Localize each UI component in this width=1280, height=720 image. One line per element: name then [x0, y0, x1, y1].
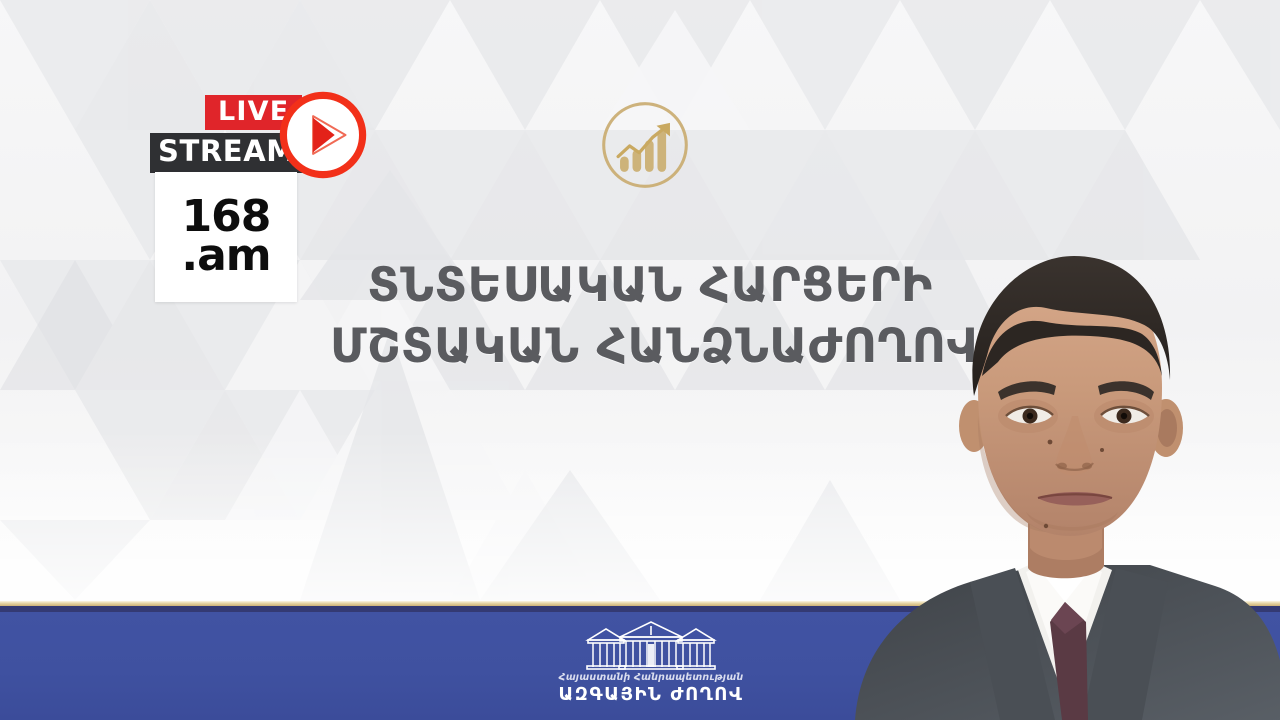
national-assembly-emblem: Հայաստանի Հանրապետության ԱԶԳԱՅԻՆ ԺՈՂՈՎ [556, 620, 746, 716]
institution-subtitle: Հայաստանի Հանրապետության [559, 672, 744, 683]
live-stream-badge: LIVE STREAM 168 .am [150, 88, 380, 303]
play-triangle-icon[interactable] [278, 90, 368, 180]
growth-bar-chart-icon [597, 97, 693, 193]
speaker-portrait-illustration [850, 230, 1280, 720]
speaker-portrait [850, 230, 1280, 720]
broadcast-title-card: ՏՆՏԵՍԱԿԱՆ ՀԱՐՑԵՐԻ ՄՇՏԱԿԱՆ ՀԱՆՁՆԱԺՈՂՈՎ LI… [0, 0, 1280, 720]
parliament-building-icon [576, 620, 726, 670]
outlet-logo-168am[interactable]: 168 .am [155, 172, 297, 302]
institution-title: ԱԶԳԱՅԻՆ ԺՈՂՈՎ [558, 684, 743, 705]
outlet-logo-line-2: .am [181, 236, 270, 277]
